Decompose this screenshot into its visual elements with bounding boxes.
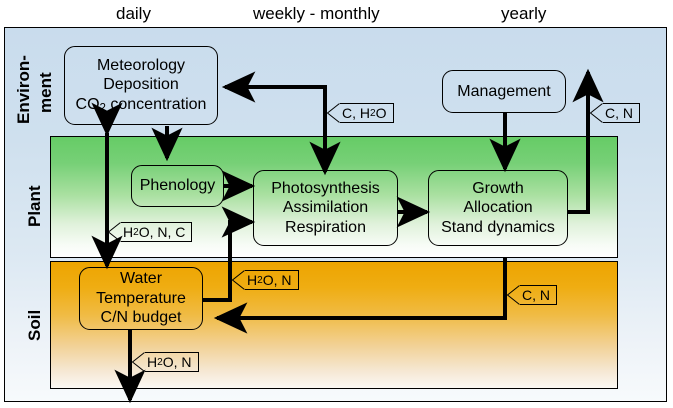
box-water[interactable]: Water Temperature C/N budget <box>79 267 203 330</box>
flux-label-c-n-env: C, N <box>590 103 640 123</box>
box-photosynthesis-line-3: Respiration <box>285 218 366 238</box>
box-meteorology-line-3: CO2 concentration <box>76 95 207 116</box>
diagram-canvas: daily weekly - monthly yearly Environ- m… <box>0 0 673 408</box>
box-meteorology-line-2: Deposition <box>103 75 179 95</box>
flux-label-h2o-n-c-plant: H2O, N, C <box>108 222 192 242</box>
flag-tip-icon <box>232 270 245 290</box>
box-management[interactable]: Management <box>442 70 566 113</box>
box-water-line-3: C/N budget <box>101 308 182 328</box>
flag-tip-icon <box>327 103 340 123</box>
box-water-line-1: Water <box>120 269 162 289</box>
plant-band-label: Plant <box>25 185 45 227</box>
soil-band-label: Soil <box>25 310 45 341</box>
box-phenology[interactable]: Phenology <box>131 165 224 207</box>
box-growth-line-3: Stand dynamics <box>441 218 555 238</box>
environment-band-label: Environ- <box>14 55 34 124</box>
box-management-line-1: Management <box>457 82 550 102</box>
flag-tip-icon <box>108 222 121 242</box>
box-photosynthesis[interactable]: Photosynthesis Assimilation Respiration <box>253 170 398 246</box>
box-growth-line-2: Allocation <box>463 198 532 218</box>
timescale-weekly-monthly: weekly - monthly <box>253 4 380 24</box>
flux-label-h2o-n-soil-text: H2O, N <box>245 270 299 290</box>
box-photosynthesis-line-2: Assimilation <box>283 198 368 218</box>
box-phenology-line-1: Phenology <box>140 176 216 196</box>
box-water-line-2: Temperature <box>96 289 186 309</box>
flux-label-c-n-soil-text: C, N <box>520 285 557 305</box>
flux-label-c-n-env-text: C, N <box>603 103 640 123</box>
timescale-daily: daily <box>116 4 151 24</box>
flag-tip-icon <box>507 285 520 305</box>
box-growth[interactable]: Growth Allocation Stand dynamics <box>428 170 568 246</box>
box-photosynthesis-line-1: Photosynthesis <box>271 179 380 199</box>
flux-label-h2o-n-out: H2O, N <box>132 352 199 372</box>
flux-label-c-h2o-env: C, H2O <box>327 103 394 123</box>
flux-label-h2o-n-soil: H2O, N <box>232 270 299 290</box>
environment-band-label-2: ment <box>36 72 56 113</box>
box-meteorology[interactable]: Meteorology Deposition CO2 concentration <box>64 46 218 125</box>
timescale-yearly: yearly <box>501 4 546 24</box>
flag-tip-icon <box>590 103 603 123</box>
box-meteorology-line-1: Meteorology <box>97 56 185 76</box>
box-growth-line-1: Growth <box>472 179 524 199</box>
flux-label-c-n-soil: C, N <box>507 285 557 305</box>
flux-label-h2o-n-c-plant-text: H2O, N, C <box>121 222 192 242</box>
flag-tip-icon <box>132 352 145 372</box>
flux-label-h2o-n-out-text: H2O, N <box>145 352 199 372</box>
flux-label-c-h2o-env-text: C, H2O <box>340 103 394 123</box>
